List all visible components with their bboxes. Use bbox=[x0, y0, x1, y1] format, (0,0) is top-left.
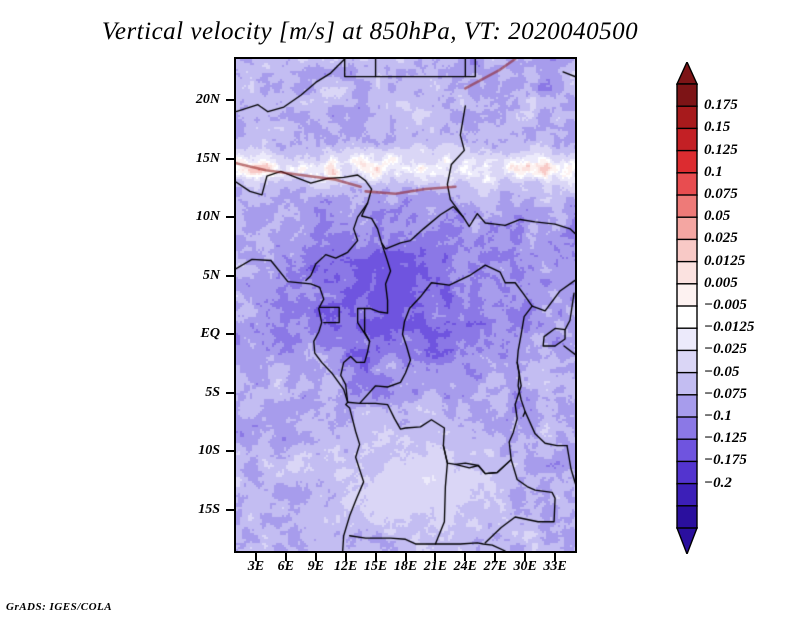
y-tick-label: 5N bbox=[174, 269, 220, 283]
colorbar-swatch bbox=[677, 395, 697, 418]
x-tick-mark bbox=[315, 553, 317, 561]
colorbar bbox=[676, 62, 698, 554]
colorbar-tick-label: 0.05 bbox=[704, 209, 730, 224]
colorbar-tick-label: −0.075 bbox=[704, 387, 747, 402]
vertical-velocity-heatmap bbox=[236, 59, 575, 551]
colorbar-swatch bbox=[677, 350, 697, 373]
y-tick-label: 15N bbox=[174, 152, 220, 166]
colorbar-swatch bbox=[677, 262, 697, 285]
x-tick-mark bbox=[345, 553, 347, 561]
y-tick-mark bbox=[226, 99, 234, 101]
colorbar-tick-label: −0.1 bbox=[704, 409, 732, 424]
colorbar-tick-label: −0.025 bbox=[704, 342, 747, 357]
y-tick-mark bbox=[226, 392, 234, 394]
colorbar-tick-label: 0.075 bbox=[704, 187, 738, 202]
x-tick-mark bbox=[524, 553, 526, 561]
map-plot-area bbox=[234, 57, 577, 553]
colorbar-tick-label: −0.05 bbox=[704, 365, 739, 380]
colorbar-swatch bbox=[677, 106, 697, 129]
y-tick-mark bbox=[226, 275, 234, 277]
colorbar-tick-label: −0.0125 bbox=[704, 320, 754, 335]
y-tick-label: 5S bbox=[174, 386, 220, 400]
colorbar-swatch bbox=[677, 461, 697, 484]
colorbar-tick-label: 0.0125 bbox=[704, 254, 745, 269]
colorbar-swatch bbox=[677, 173, 697, 196]
x-tick-mark bbox=[375, 553, 377, 561]
colorbar-swatch bbox=[677, 439, 697, 462]
y-tick-label: 10N bbox=[174, 210, 220, 224]
footer-credit: GrADS: IGES/COLA bbox=[6, 601, 112, 613]
x-tick-label: 33E bbox=[535, 560, 575, 574]
colorbar-swatch bbox=[677, 417, 697, 440]
x-tick-mark bbox=[554, 553, 556, 561]
colorbar-swatch bbox=[677, 328, 697, 351]
colorbar-tick-label: 0.1 bbox=[704, 165, 723, 180]
y-tick-label: EQ bbox=[174, 327, 220, 341]
colorbar-tick-label: −0.125 bbox=[704, 431, 747, 446]
colorbar-bottom-arrow bbox=[677, 528, 697, 554]
y-tick-mark bbox=[226, 158, 234, 160]
y-tick-mark bbox=[226, 450, 234, 452]
colorbar-tick-label: 0.025 bbox=[704, 231, 738, 246]
y-tick-label: 10S bbox=[174, 444, 220, 458]
y-tick-label: 15S bbox=[174, 503, 220, 517]
colorbar-swatch bbox=[677, 239, 697, 262]
page-title: Vertical velocity [m/s] at 850hPa, VT: 2… bbox=[0, 18, 740, 46]
colorbar-swatch bbox=[677, 195, 697, 218]
colorbar-swatch bbox=[677, 84, 697, 107]
colorbar-tick-label: 0.15 bbox=[704, 120, 730, 135]
colorbar-swatch bbox=[677, 284, 697, 307]
x-tick-mark bbox=[255, 553, 257, 561]
y-tick-label: 20N bbox=[174, 93, 220, 107]
colorbar-swatch bbox=[677, 306, 697, 329]
x-tick-mark bbox=[494, 553, 496, 561]
colorbar-swatch bbox=[677, 484, 697, 507]
colorbar-tick-label: 0.005 bbox=[704, 276, 738, 291]
colorbar-tick-label: 0.175 bbox=[704, 98, 738, 113]
colorbar-swatch bbox=[677, 506, 697, 529]
y-tick-mark bbox=[226, 509, 234, 511]
x-tick-mark bbox=[464, 553, 466, 561]
colorbar-swatch bbox=[677, 128, 697, 151]
colorbar-top-arrow bbox=[677, 62, 697, 84]
x-tick-mark bbox=[285, 553, 287, 561]
y-tick-mark bbox=[226, 216, 234, 218]
x-tick-mark bbox=[434, 553, 436, 561]
colorbar-tick-label: −0.175 bbox=[704, 453, 747, 468]
colorbar-tick-label: −0.2 bbox=[704, 476, 732, 491]
colorbar-tick-label: 0.125 bbox=[704, 143, 738, 158]
colorbar-swatch bbox=[677, 217, 697, 240]
y-tick-mark bbox=[226, 333, 234, 335]
colorbar-swatch bbox=[677, 151, 697, 174]
colorbar-swatch bbox=[677, 373, 697, 396]
x-tick-mark bbox=[405, 553, 407, 561]
colorbar-tick-label: −0.005 bbox=[704, 298, 747, 313]
